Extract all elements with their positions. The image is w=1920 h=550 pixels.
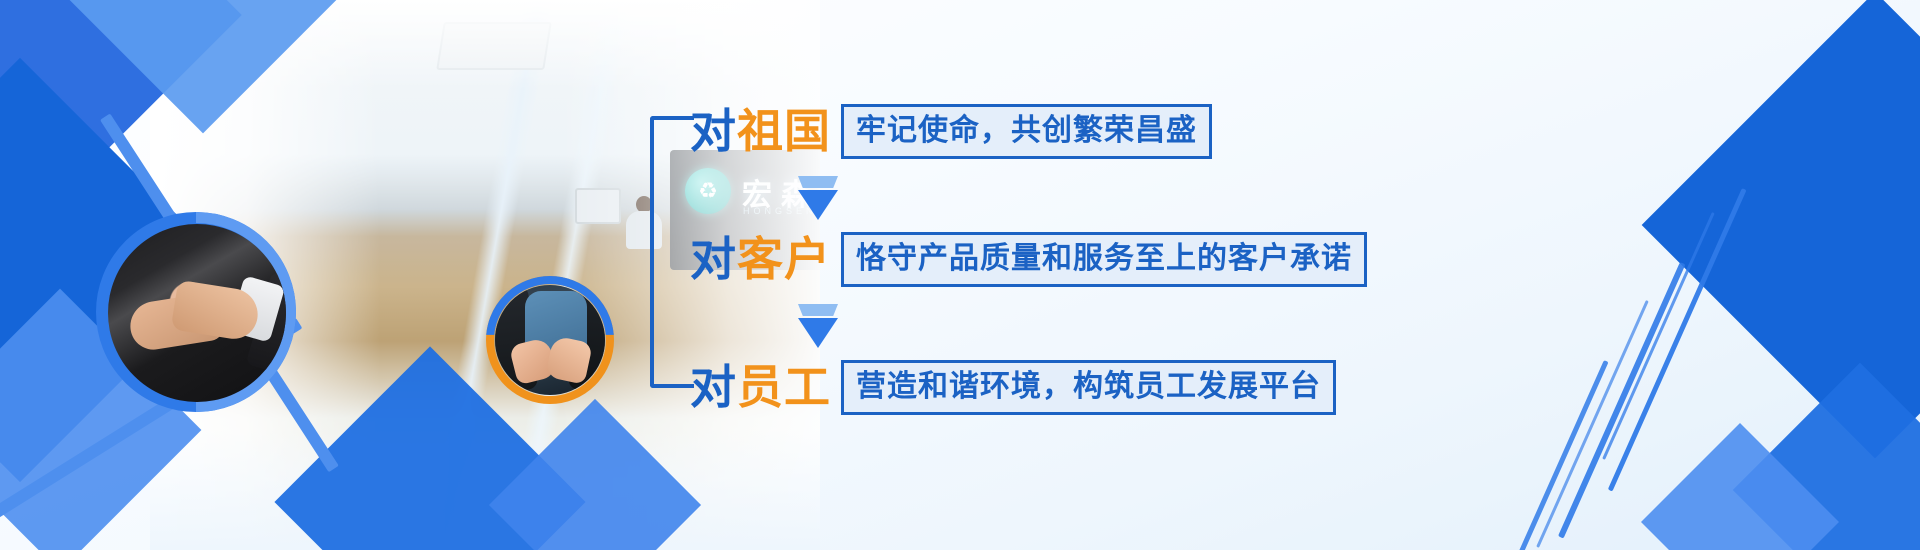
handshake-photo: [108, 224, 286, 402]
responsibility-row-country: 对祖国 牢记使命，共创繁荣昌盛: [690, 100, 1212, 162]
applause-photo: [495, 285, 605, 395]
heading-prefix: 对: [690, 105, 737, 157]
heading-customer: 对客户: [690, 236, 831, 282]
statement-customer: 恪守产品质量和服务至上的客户承诺: [841, 232, 1367, 287]
statement-country: 牢记使命，共创繁荣昌盛: [841, 104, 1212, 159]
heading-employee: 对员工: [690, 364, 831, 410]
heading-prefix: 对: [690, 361, 737, 413]
bracket-connector: [650, 116, 694, 388]
responsibility-row-customer: 对客户 恪守产品质量和服务至上的客户承诺: [690, 228, 1367, 290]
corporate-responsibility-banner: ♻ 宏森环保 HONGSEN ENVIRONMENTAL PROTECTION: [0, 0, 1920, 550]
heading-country: 对祖国: [690, 108, 831, 154]
heading-prefix: 对: [690, 233, 737, 285]
responsibility-row-employee: 对员工 营造和谐环境，构筑员工发展平台: [690, 356, 1336, 418]
responsibility-content: 对祖国 牢记使命，共创繁荣昌盛 对客户 恪守产品质量和服务至上的客户承诺: [650, 70, 1650, 470]
heading-keyword: 祖国: [737, 105, 831, 157]
arrow-down-icon-1: [798, 176, 838, 220]
statement-employee: 营造和谐环境，构筑员工发展平台: [841, 360, 1336, 415]
heading-keyword: 员工: [737, 361, 831, 413]
heading-keyword: 客户: [737, 233, 831, 285]
arrow-down-icon-2: [798, 304, 838, 348]
